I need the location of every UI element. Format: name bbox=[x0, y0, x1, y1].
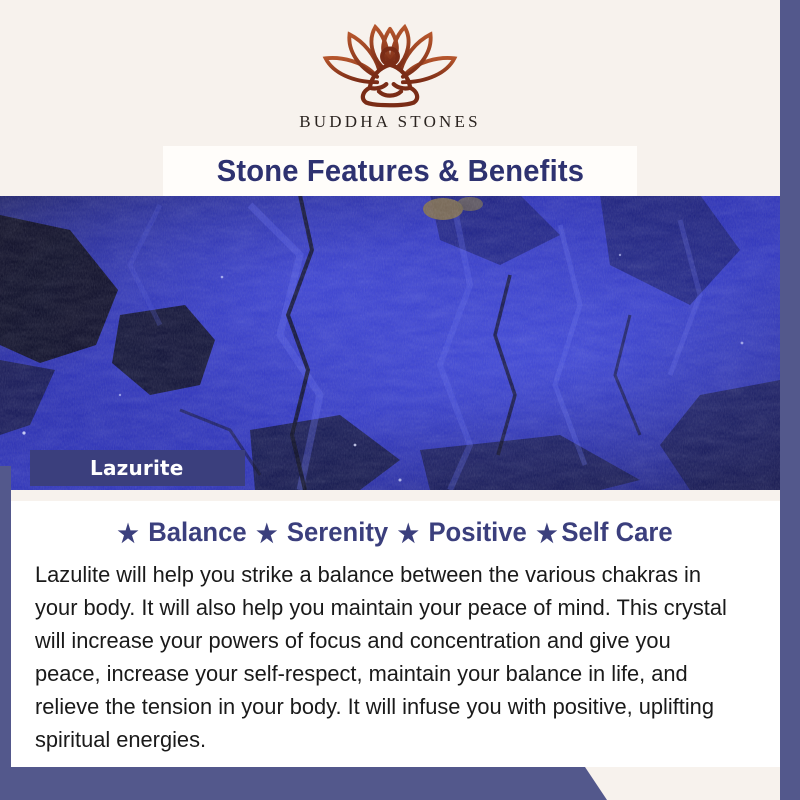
stone-name-label: Lazurite bbox=[30, 456, 184, 480]
title-banner: Stone Features & Benefits bbox=[163, 146, 637, 196]
keyword-balance: Balance bbox=[147, 517, 247, 547]
brand-name: BUDDHA STONES bbox=[0, 112, 780, 132]
lazurite-stone-photo bbox=[0, 195, 780, 490]
brand-logo: BUDDHA STONES bbox=[0, 16, 780, 132]
star-icon-1: ★ bbox=[117, 520, 138, 548]
keyword-self-care: Self Care bbox=[560, 517, 673, 547]
keyword-serenity: Serenity bbox=[286, 517, 389, 547]
navy-bottom-band bbox=[0, 767, 800, 800]
lotus-meditation-icon bbox=[295, 16, 485, 108]
navy-left-band bbox=[0, 466, 11, 800]
stone-name-chip: Lazurite bbox=[30, 450, 245, 486]
star-icon-4: ★ bbox=[536, 520, 557, 548]
star-icon-3: ★ bbox=[398, 520, 419, 548]
panel-top-strip bbox=[11, 490, 780, 501]
keyword-list: ★Balance★Serenity★Positive★Self Care bbox=[30, 517, 761, 549]
navy-right-band bbox=[780, 0, 800, 800]
description-text: Lazulite will help you strike a balance … bbox=[35, 558, 733, 756]
description-panel: ★Balance★Serenity★Positive★Self Care Laz… bbox=[11, 490, 780, 767]
page-title: Stone Features & Benefits bbox=[216, 153, 583, 189]
poster-root: BUDDHA STONES Stone Features & Benefits … bbox=[0, 0, 800, 800]
star-icon-2: ★ bbox=[256, 520, 277, 548]
keyword-positive: Positive bbox=[427, 517, 527, 547]
